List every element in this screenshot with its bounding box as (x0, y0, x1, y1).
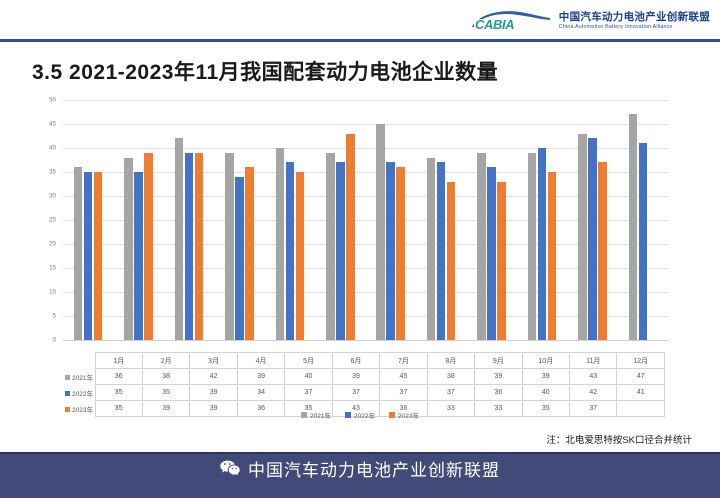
header-divider (0, 39, 720, 42)
table-row-header: 2021年 (63, 369, 95, 385)
bar (134, 172, 143, 340)
table-column-header: 8月 (427, 353, 474, 369)
bar (296, 172, 305, 340)
bar (336, 162, 345, 340)
bar-group (214, 100, 264, 340)
table-column-header: 6月 (332, 353, 379, 369)
table-cell: 39 (190, 385, 237, 401)
bar (548, 172, 557, 340)
y-axis: 05101520253035404550 (30, 100, 60, 340)
bar (629, 114, 638, 340)
bar (487, 167, 496, 340)
bar (84, 172, 93, 340)
plot-area (63, 100, 668, 340)
legend-label: 2022年 (354, 410, 375, 420)
bar (144, 153, 153, 340)
table-cell: 39 (237, 369, 284, 385)
table-cell: 42 (570, 385, 617, 401)
footer-divider (0, 452, 720, 454)
table-column-header: 7月 (380, 353, 427, 369)
table-cell: 39 (332, 369, 379, 385)
table-cell: 37 (285, 385, 332, 401)
table-column-header: 5月 (285, 353, 332, 369)
table-cell: 36 (475, 385, 522, 401)
bar (326, 153, 335, 340)
table-column-header: 2月 (142, 353, 189, 369)
y-axis-tick-label: 45 (49, 121, 56, 128)
table-column-header: 12月 (617, 353, 665, 369)
table-column-header: 9月 (475, 353, 522, 369)
y-axis-tick-label: 35 (49, 169, 56, 176)
bar (94, 172, 103, 340)
y-axis-tick-label: 20 (49, 241, 56, 248)
bar (124, 158, 133, 340)
table-cell: 40 (522, 385, 569, 401)
cabia-logo-icon: CABIA (468, 8, 552, 34)
table-cell: 39 (475, 369, 522, 385)
table-cell: 47 (617, 369, 665, 385)
table-row: 2021年363842394039453839394347 (63, 369, 665, 385)
bar (276, 148, 285, 340)
bar (245, 167, 254, 340)
table-column-header: 4月 (237, 353, 284, 369)
table-cell: 38 (142, 369, 189, 385)
brand-name-en: China Automotive Battery Innovation Alli… (559, 24, 710, 30)
svg-text:CABIA: CABIA (475, 17, 514, 32)
bar (376, 124, 385, 340)
brand-text: 中国汽车动力电池产业创新联盟 China Automotive Battery … (559, 11, 710, 30)
table-cell: 36 (95, 369, 142, 385)
data-table-body: 1月2月3月4月5月6月7月8月9月10月11月12月2021年36384239… (63, 353, 665, 417)
y-axis-tick-label: 25 (49, 217, 56, 224)
bar (578, 134, 587, 340)
table-cell: 35 (95, 385, 142, 401)
bar-groups (63, 100, 668, 340)
y-axis-tick-label: 50 (49, 97, 56, 104)
legend-label: 2023年 (398, 410, 419, 420)
series-color-swatch (65, 375, 70, 380)
y-axis-tick-label: 15 (49, 265, 56, 272)
table-cell: 41 (617, 385, 665, 401)
wechat-icon (220, 460, 240, 477)
bar (427, 158, 436, 340)
legend-item[interactable]: 2023年 (389, 410, 419, 420)
bar (477, 153, 486, 340)
table-corner-cell (63, 353, 95, 369)
bar (185, 153, 194, 340)
chart-legend: 2021年2022年2023年 (0, 410, 720, 420)
table-column-header: 11月 (570, 353, 617, 369)
bar (175, 138, 184, 340)
y-axis-tick-label: 40 (49, 145, 56, 152)
bar (286, 162, 295, 340)
y-axis-tick-label: 0 (53, 337, 56, 344)
bar-group (466, 100, 516, 340)
legend-swatch (301, 412, 307, 418)
brand-name-cn: 中国汽车动力电池产业创新联盟 (559, 11, 710, 23)
bar (74, 167, 83, 340)
bar (195, 153, 204, 340)
bar-group (366, 100, 416, 340)
bar-group (113, 100, 163, 340)
bar (437, 162, 446, 340)
bar (538, 148, 547, 340)
series-color-swatch (65, 391, 70, 396)
bar-group (416, 100, 466, 340)
bar-chart: 05101520253035404550 (30, 100, 675, 352)
footnote: 注：北电爱思特按SK口径合并统计 (546, 432, 692, 446)
table-cell: 34 (237, 385, 284, 401)
table-header-row: 1月2月3月4月5月6月7月8月9月10月11月12月 (63, 353, 665, 369)
bar (497, 182, 506, 340)
bar-group (618, 100, 668, 340)
bar (346, 134, 355, 340)
footer-title: 中国汽车动力电池产业创新联盟 (248, 456, 500, 481)
slide-footer: 中国汽车动力电池产业创新联盟 (0, 452, 720, 498)
y-axis-tick-label: 30 (49, 193, 56, 200)
table-cell: 35 (142, 385, 189, 401)
table-cell: 40 (285, 369, 332, 385)
bar-group (63, 100, 113, 340)
legend-swatch (389, 412, 395, 418)
bar (396, 167, 405, 340)
bar-group (315, 100, 365, 340)
legend-swatch (345, 412, 351, 418)
bar-group (265, 100, 315, 340)
table-row-header: 2022年 (63, 385, 95, 401)
legend-label: 2021年 (310, 410, 331, 420)
page-title: 3.5 2021-2023年11月我国配套动力电池企业数量 (32, 56, 498, 86)
bar-group (164, 100, 214, 340)
slide-root: CABIA 中国汽车动力电池产业创新联盟 China Automotive Ba… (0, 0, 720, 498)
brand-logo: CABIA 中国汽车动力电池产业创新联盟 China Automotive Ba… (468, 8, 710, 34)
bar (386, 162, 395, 340)
table-cell: 42 (190, 369, 237, 385)
table-cell: 37 (332, 385, 379, 401)
gridline (63, 340, 668, 341)
bar (528, 153, 537, 340)
table-column-header: 3月 (190, 353, 237, 369)
table-cell: 39 (522, 369, 569, 385)
table-cell: 37 (427, 385, 474, 401)
y-axis-tick-label: 10 (49, 289, 56, 296)
legend-item[interactable]: 2021年 (301, 410, 331, 420)
table-cell: 38 (427, 369, 474, 385)
slide-header: CABIA 中国汽车动力电池产业创新联盟 China Automotive Ba… (0, 0, 720, 40)
data-table: 1月2月3月4月5月6月7月8月9月10月11月12月2021年36384239… (63, 352, 665, 417)
table-cell: 43 (570, 369, 617, 385)
bar (588, 138, 597, 340)
bar (447, 182, 456, 340)
table-cell: 45 (380, 369, 427, 385)
y-axis-tick-label: 5 (53, 313, 56, 320)
table-cell: 37 (380, 385, 427, 401)
table-column-header: 1月 (95, 353, 142, 369)
bar (225, 153, 234, 340)
bar (598, 162, 607, 340)
table-column-header: 10月 (522, 353, 569, 369)
bar-group (567, 100, 617, 340)
table-row: 2022年353539343737373736404241 (63, 385, 665, 401)
bar (639, 143, 648, 340)
bar-group (517, 100, 567, 340)
bar (235, 177, 244, 340)
legend-item[interactable]: 2022年 (345, 410, 375, 420)
